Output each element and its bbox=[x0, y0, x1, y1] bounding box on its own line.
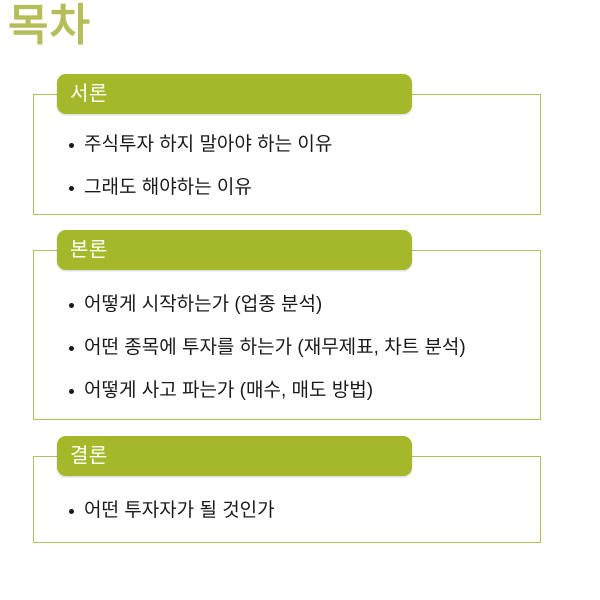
list-item: 어떤 종목에 투자를 하는가 (재무제표, 차트 분석) bbox=[69, 338, 534, 358]
section-header-label: 서론 bbox=[70, 82, 108, 106]
bullet-dot-icon bbox=[69, 186, 74, 191]
page-title: 목차 bbox=[8, 0, 91, 54]
section-header-bar: 본론 bbox=[57, 230, 412, 270]
list-item-label: 어떻게 시작하는가 (업종 분석) bbox=[84, 294, 322, 315]
list-item-label: 어떤 투자자가 될 것인가 bbox=[84, 500, 275, 521]
slide-canvas: 목차 주식투자 하지 말아야 하는 이유 그래도 해야하는 이유 서론 bbox=[0, 0, 600, 600]
list-item: 어떤 투자자가 될 것인가 bbox=[69, 501, 534, 521]
bullet-list: 어떻게 시작하는가 (업종 분석) 어떤 종목에 투자를 하는가 (재무제표, … bbox=[69, 295, 534, 424]
section-content-box: 어떻게 시작하는가 (업종 분석) 어떤 종목에 투자를 하는가 (재무제표, … bbox=[33, 250, 541, 420]
list-item-label: 주식투자 하지 말아야 하는 이유 bbox=[84, 134, 332, 155]
bullet-dot-icon bbox=[69, 143, 74, 148]
list-item-label: 그래도 해야하는 이유 bbox=[84, 177, 252, 198]
section-header-label: 결론 bbox=[70, 444, 108, 468]
list-item: 주식투자 하지 말아야 하는 이유 bbox=[69, 135, 534, 155]
section-header-bar: 결론 bbox=[57, 436, 412, 476]
bullet-list: 어떤 투자자가 될 것인가 bbox=[69, 501, 534, 544]
bullet-dot-icon bbox=[69, 509, 74, 514]
list-item: 어떻게 사고 파는가 (매수, 매도 방법) bbox=[69, 381, 534, 401]
list-item-label: 어떤 종목에 투자를 하는가 (재무제표, 차트 분석) bbox=[84, 337, 466, 358]
bullet-dot-icon bbox=[69, 346, 74, 351]
bullet-dot-icon bbox=[69, 389, 74, 394]
section-header-label: 본론 bbox=[70, 238, 108, 262]
section-header-bar: 서론 bbox=[57, 74, 412, 114]
list-item-label: 어떻게 사고 파는가 (매수, 매도 방법) bbox=[84, 380, 373, 401]
list-item: 어떻게 시작하는가 (업종 분석) bbox=[69, 295, 534, 315]
bullet-dot-icon bbox=[69, 303, 74, 308]
list-item: 그래도 해야하는 이유 bbox=[69, 178, 534, 198]
bullet-list: 주식투자 하지 말아야 하는 이유 그래도 해야하는 이유 bbox=[69, 135, 534, 221]
